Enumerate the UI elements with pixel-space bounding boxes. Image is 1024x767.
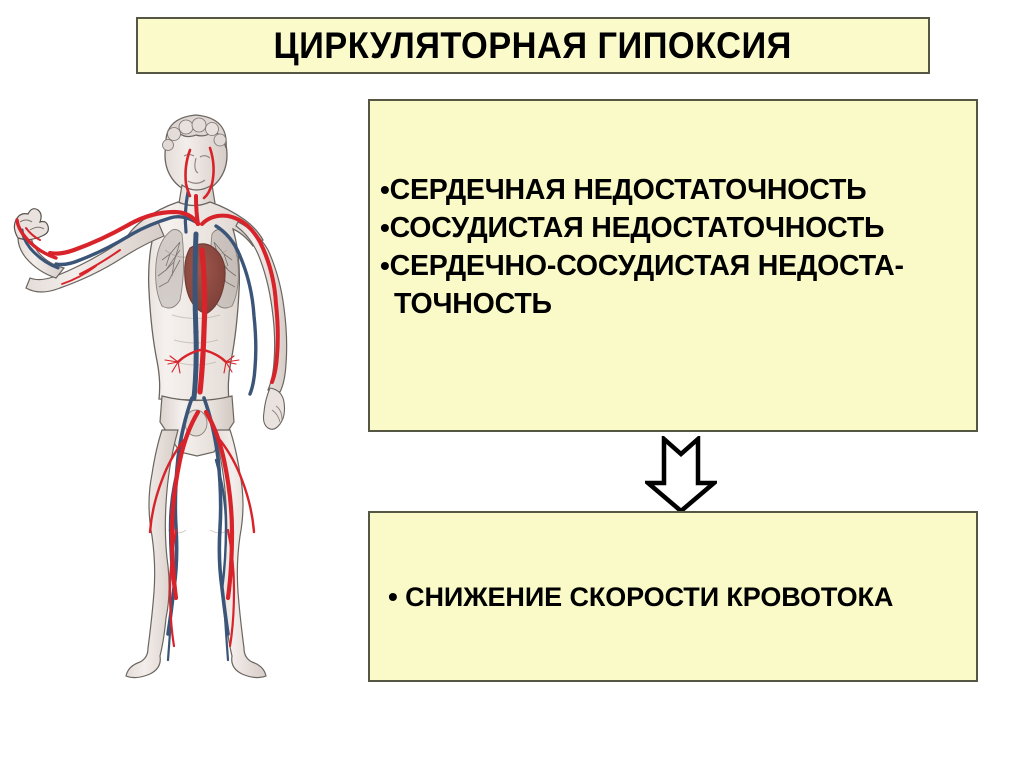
result-panel: • СНИЖЕНИЕ СКОРОСТИ КРОВОТОКА [368, 511, 978, 682]
list-item-label: СЕРДЕЧНО-СОСУДИСТАЯ НЕДОСТА- [390, 250, 904, 282]
result-list-item: • СНИЖЕНИЕ СКОРОСТИ КРОВОТОКА [388, 580, 893, 614]
list-item: •СЕРДЕЧНАЯ НЕДОСТАТОЧНОСТЬ [380, 171, 1020, 209]
list-item-label-continuation: ТОЧНОСТЬ [380, 285, 1002, 323]
figure-body-silhouette [14, 115, 286, 678]
list-item-label: СОСУДИСТАЯ НЕДОСТАТОЧНОСТЬ [390, 212, 885, 244]
list-item-label: СЕРДЕЧНАЯ НЕДОСТАТОЧНОСТЬ [390, 174, 867, 206]
bullet-marker-icon: • [388, 581, 398, 612]
bullet-marker-icon: • [380, 174, 390, 205]
slide-title-box: ЦИРКУЛЯТОРНАЯ ГИПОКСИЯ [136, 17, 930, 74]
bullet-marker-icon: • [380, 212, 390, 243]
down-arrow-icon [645, 436, 717, 514]
list-item: •СОСУДИСТАЯ НЕДОСТАТОЧНОСТЬ [380, 209, 1020, 247]
circulatory-system-illustration [0, 100, 330, 720]
result-label: СНИЖЕНИЕ СКОРОСТИ КРОВОТОКА [405, 582, 893, 612]
bullet-marker-icon: • [380, 250, 390, 281]
causes-panel: •СЕРДЕЧНАЯ НЕДОСТАТОЧНОСТЬ •СОСУДИСТАЯ Н… [368, 99, 978, 432]
slide-canvas: ЦИРКУЛЯТОРНАЯ ГИПОКСИЯ [0, 0, 1024, 767]
page-title: ЦИРКУЛЯТОРНАЯ ГИПОКСИЯ [274, 25, 792, 67]
causes-bullet-list: •СЕРДЕЧНАЯ НЕДОСТАТОЧНОСТЬ •СОСУДИСТАЯ Н… [380, 171, 1020, 323]
list-item: •СЕРДЕЧНО-СОСУДИСТАЯ НЕДОСТА-ТОЧНОСТЬ [380, 247, 1002, 323]
